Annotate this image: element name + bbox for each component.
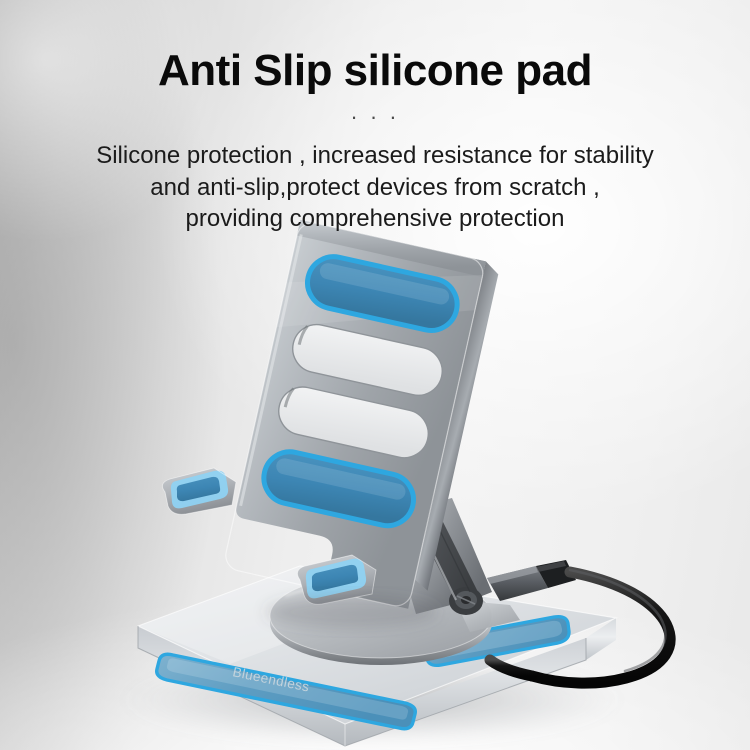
- usb-c-connector: [487, 560, 576, 601]
- divider-dots: · · ·: [0, 106, 750, 128]
- description-line-1: Silicone protection , increased resistan…: [40, 140, 710, 172]
- pivot-joint: [449, 587, 483, 615]
- description-block: Silicone protection , increased resistan…: [40, 140, 710, 235]
- page-title: Anti Slip silicone pad: [0, 48, 750, 94]
- description-line-3: providing comprehensive protection: [40, 203, 710, 235]
- support-lip-left: [162, 468, 236, 514]
- description-line-2: and anti-slip,protect devices from scrat…: [40, 172, 710, 204]
- product-marketing-image: Blueendless: [0, 0, 750, 750]
